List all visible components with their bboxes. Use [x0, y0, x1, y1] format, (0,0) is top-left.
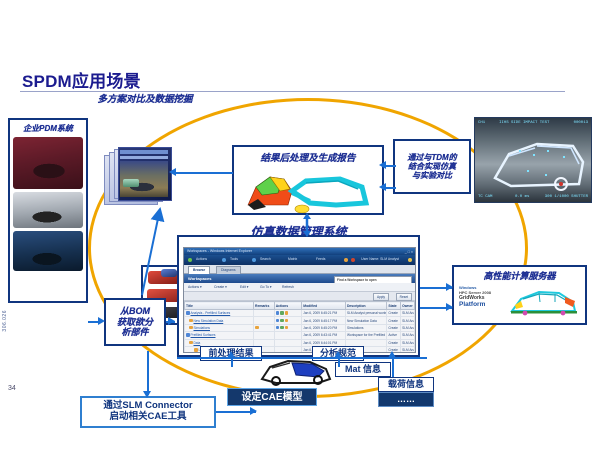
- tdm-line-3: 与实验对比: [412, 171, 452, 180]
- column-owner[interactable]: Owner: [401, 302, 415, 310]
- data-mining-label: 多方案对比及数据挖掘: [90, 91, 200, 105]
- action-bar[interactable]: Actions ▾ Create ▾ Edit ▾ Go To ▾ Refres…: [184, 283, 415, 292]
- arrow-bom-to-stack: [100, 205, 180, 305]
- user-name-label: User Name: SLM Analyst: [361, 257, 399, 261]
- cell-title[interactable]: Simulations: [185, 324, 254, 331]
- cell-owner: SLM Analyst: [401, 317, 415, 324]
- cell-modified: Jan 6, 2009 6:45:17 PM: [302, 317, 346, 324]
- cell-owner: SLM Analyst: [401, 346, 415, 353]
- arrow-head-tdm-left: [379, 161, 386, 169]
- cell-remarks: [254, 317, 275, 324]
- cell-owner: SLM Analyst: [401, 310, 415, 317]
- action-actions[interactable]: Actions ▾: [188, 285, 202, 289]
- column-title[interactable]: Title: [185, 302, 254, 310]
- table-header-row: Title Remarks Actions Modified Descripti…: [185, 302, 415, 310]
- cell-description: SLM Analyst personal workspace: [345, 310, 386, 317]
- sdm-application-window: Workspaces - Windows Internet Explorer _…: [177, 235, 420, 357]
- action-create[interactable]: Create ▾: [214, 285, 227, 289]
- tag-cae-model: 设定CAE模型: [227, 388, 317, 406]
- side-code-text: 306.026: [2, 310, 8, 332]
- cell-state: Create: [387, 339, 401, 346]
- alert-icon[interactable]: [351, 258, 355, 262]
- arrow-head-pdm-to-bom: [98, 317, 105, 325]
- cell-actions[interactable]: [274, 346, 302, 353]
- enterprise-pdm-panel: 企业PDM系统: [8, 118, 88, 303]
- cell-title[interactable]: Prefilled Surfaces: [185, 332, 254, 339]
- cell-modified: Jan 6, 2009 6:43:41 PM: [302, 332, 346, 339]
- cell-modified: Jan 6, 2009 6:45:20 PM: [302, 324, 346, 331]
- cell-actions[interactable]: [274, 332, 302, 339]
- arrow-cae-to-stack: [175, 172, 233, 174]
- folder-icon: [189, 341, 193, 345]
- action-goto[interactable]: Go To ▾: [260, 285, 272, 289]
- cell-description: Simulations: [345, 324, 386, 331]
- table-row[interactable]: New Simulation DataJan 6, 2009 6:45:17 P…: [185, 317, 415, 324]
- app-toolbar[interactable]: Actions Tools Search Matrix Feeds User N…: [184, 255, 415, 265]
- car-image-silver: [13, 192, 83, 228]
- video-osd-bottom-left: TC CAM: [478, 195, 492, 199]
- slm-line-2: 启动相关CAE工具: [109, 411, 186, 422]
- warning-icon: [255, 326, 259, 330]
- video-osd-bottom-center: 0.0 ms: [515, 195, 529, 199]
- bom-extract-callout: 从BOM 获取欲分 析部件: [104, 298, 166, 346]
- tools-icon[interactable]: [222, 258, 226, 262]
- cell-remarks: [254, 324, 275, 331]
- cell-state: Active: [387, 332, 401, 339]
- arrow-app-to-cae-double: [300, 213, 314, 237]
- hpc-logos: Windows HPC Server 2008 GridWorks Platfo…: [459, 285, 511, 309]
- table-row[interactable]: Analysis - Prefilled SurfacesJan 6, 2009…: [185, 310, 415, 317]
- cell-description: Workspace for the Prefilled Sur...: [345, 332, 386, 339]
- arrow-head-bom-to-app: [168, 317, 175, 325]
- bom-line-3: 析部件: [121, 327, 148, 337]
- arrow-to-slm: [147, 351, 149, 395]
- apply-reset-bar[interactable]: Apply Reset: [184, 292, 415, 301]
- hpc-car-mesh-image: [509, 283, 581, 321]
- toolbar-item-search[interactable]: Search: [260, 257, 271, 261]
- browser-window: Workspaces - Windows Internet Explorer _…: [183, 247, 416, 353]
- post-processing-box: 结果后处理及生成报告: [232, 145, 384, 215]
- car-image-maroon: [13, 137, 83, 189]
- cell-actions[interactable]: [274, 339, 302, 346]
- tab-diagrams[interactable]: Diagrams: [216, 266, 241, 274]
- arrow-head-app-to-hpc: [446, 283, 453, 291]
- table-row[interactable]: SimulationsJan 6, 2009 6:45:20 PMSimulat…: [185, 324, 415, 331]
- folder-icon: [194, 348, 198, 352]
- flag-icon[interactable]: [344, 258, 348, 262]
- workspaces-panel-header: Workspaces Find a Workspace to open: [184, 274, 415, 283]
- tag-mat-info: Mat 信息: [335, 362, 391, 377]
- cell-remarks: [254, 310, 275, 317]
- cell-description: New Simulation Data: [345, 317, 386, 324]
- video-osd-top-center: IIHS SIDE IMPACT TEST: [499, 121, 549, 125]
- tab-browse[interactable]: Browse: [188, 266, 210, 274]
- hpc-server-box: 高性能计算服务器 Windows HPC Server 2008 GridWor…: [452, 265, 587, 325]
- bom-line-2: 获取欲分: [117, 317, 153, 327]
- crash-test-video: CH1 IIHS SIDE IMPACT TEST 000013 TC CAM …: [474, 117, 592, 203]
- slm-connector-callout: 通过SLM Connector 启动相关CAE工具: [80, 396, 216, 428]
- tdm-line-1: 通过与TDM的: [407, 153, 456, 162]
- column-actions[interactable]: Actions: [274, 302, 302, 310]
- cell-state: Create: [387, 310, 401, 317]
- folder-icon: [186, 333, 190, 337]
- cell-owner: SLM Analyst: [401, 339, 415, 346]
- folder-icon: [186, 311, 190, 315]
- tab-bar[interactable]: Browse Diagrams: [184, 265, 415, 274]
- hpc-label: 高性能计算服务器: [454, 269, 585, 282]
- tag-load-info: 载荷信息: [378, 377, 434, 392]
- arrow-band-rail: [177, 357, 427, 359]
- platform-logo: Platform: [459, 301, 511, 309]
- arrow-head-hpc-to-app: [446, 303, 453, 311]
- cell-owner: SLM Analyst: [401, 332, 415, 339]
- tdm-line-2: 结合实现仿真: [408, 162, 456, 171]
- cell-actions[interactable]: [274, 317, 302, 324]
- cae-result-mesh-image: [240, 165, 380, 213]
- multi-scheme-comparison-stack: [104, 147, 170, 205]
- arrow-head-to-slm: [143, 391, 151, 398]
- reset-button[interactable]: Reset: [396, 293, 412, 301]
- toolbar-item-matrix[interactable]: Matrix: [288, 257, 297, 261]
- enterprise-pdm-label: 企业PDM系统: [10, 123, 86, 134]
- slm-line-1: 通过SLM Connector: [103, 400, 192, 411]
- tag-etc: ……: [378, 392, 434, 407]
- cell-title[interactable]: New Simulation Data: [185, 317, 254, 324]
- slide-canvas: SPDM应用场景 企业PDM系统 306.026 34 多方案对比及数据挖掘 结…: [0, 55, 600, 395]
- video-osd-bottom-right: 300 1/1000 SHUTTER: [545, 195, 588, 199]
- tdm-comparison-callout: 通过与TDM的 结合实现仿真 与实验对比: [393, 139, 471, 194]
- cell-actions[interactable]: [274, 324, 302, 331]
- column-modified[interactable]: Modified: [302, 302, 346, 310]
- video-osd-top-right: 000013: [574, 121, 588, 125]
- toolbar-item-actions[interactable]: Actions: [196, 257, 207, 261]
- cell-actions[interactable]: [274, 310, 302, 317]
- cell-modified: Jan 6, 2009 6:45:21 PM: [302, 310, 346, 317]
- action-edit[interactable]: Edit ▾: [240, 285, 249, 289]
- cell-state: Create: [387, 317, 401, 324]
- search-icon[interactable]: [252, 258, 256, 262]
- post-processing-label: 结果后处理及生成报告: [234, 150, 382, 164]
- page-title: SPDM应用场景: [22, 67, 141, 92]
- arrow-head-slm-to-cae-model: [250, 407, 257, 415]
- column-remarks[interactable]: Remarks: [254, 302, 275, 310]
- cell-state: Create: [387, 324, 401, 331]
- folder-icon: [189, 326, 193, 330]
- cell-title[interactable]: Analysis - Prefilled Surfaces: [185, 310, 254, 317]
- action-refresh[interactable]: Refresh: [282, 285, 294, 289]
- table-row[interactable]: Prefilled SurfacesJan 6, 2009 6:43:41 PM…: [185, 332, 415, 339]
- folder-icon: [189, 319, 193, 323]
- car-image-blue: [13, 231, 83, 271]
- cell-owner: SLM Analyst: [401, 324, 415, 331]
- column-state[interactable]: State: [387, 302, 401, 310]
- toolbar-item-tools[interactable]: Tools: [230, 257, 238, 261]
- bom-line-1: 从BOM: [120, 306, 150, 316]
- arrow-pdm-to-bom: [88, 321, 98, 323]
- video-osd-top-left: CH1: [478, 121, 485, 125]
- browser-titlebar: Workspaces - Windows Internet Explorer _…: [184, 248, 415, 255]
- workspaces-title: Workspaces: [188, 276, 212, 281]
- cell-remarks: [254, 332, 275, 339]
- arrow-head-tdm-left-2: [379, 183, 386, 191]
- arrow-head-cae-to-stack: [169, 168, 176, 176]
- column-description[interactable]: Description: [345, 302, 386, 310]
- arrow-load-info-up: [392, 357, 394, 377]
- home-icon[interactable]: [188, 258, 192, 262]
- avatar[interactable]: [408, 258, 412, 262]
- browser-title-text: Workspaces - Windows Internet Explorer: [187, 249, 252, 253]
- apply-button[interactable]: Apply: [373, 293, 389, 301]
- toolbar-item-feeds[interactable]: Feeds: [316, 257, 325, 261]
